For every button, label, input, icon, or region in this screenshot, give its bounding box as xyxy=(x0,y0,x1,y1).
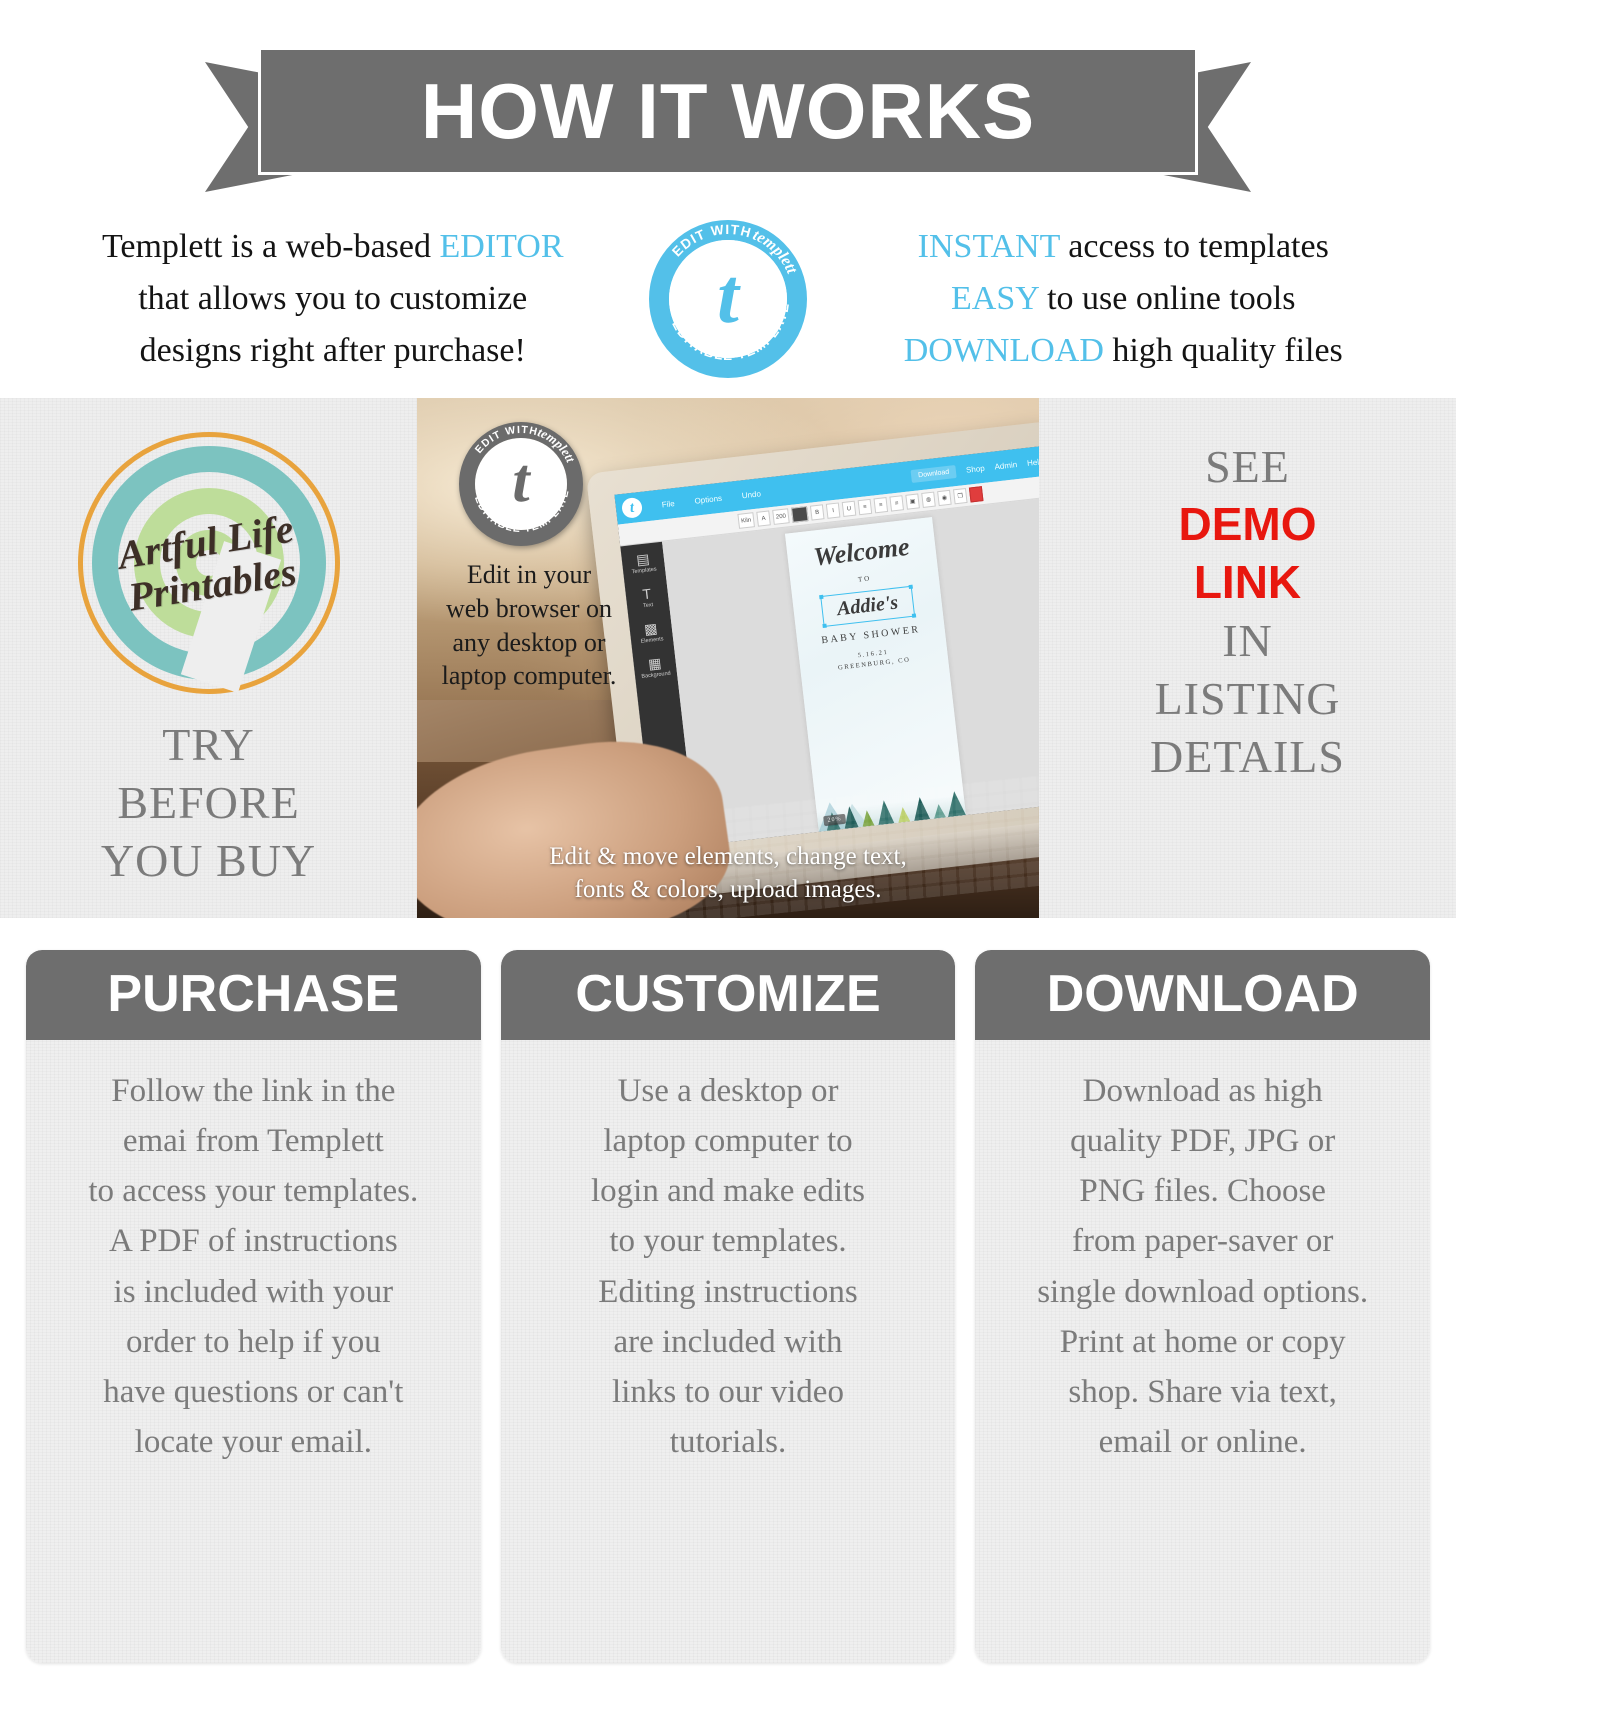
card-customize-line5: Editing instructions xyxy=(517,1267,940,1317)
intro-right-line3: DOWNLOAD high quality files xyxy=(821,325,1427,377)
try-line3: YOU BUY xyxy=(101,832,316,890)
editor-admin-link[interactable]: Admin xyxy=(994,460,1018,472)
header-banner: HOW IT WORKS xyxy=(0,0,1456,200)
intro-right-line2-post: to use online tools xyxy=(1039,280,1296,317)
card-purchase-line7: have questions or can't xyxy=(42,1367,465,1417)
selection-handle-bl[interactable] xyxy=(822,624,826,628)
background-icon: ▦ xyxy=(639,655,670,672)
sidebar-item-elements[interactable]: ▩ Elements xyxy=(639,620,664,644)
card-download-line3: PNG files. Choose xyxy=(991,1166,1414,1216)
invitation-template[interactable]: Welcome TO Addie's BABY SHOWER xyxy=(785,517,966,832)
invitation-name-text[interactable]: Addie's xyxy=(822,591,914,622)
card-purchase-line4: A PDF of instructions xyxy=(42,1216,465,1266)
selection-handle-tr[interactable] xyxy=(909,585,913,589)
editor-layer-button[interactable]: ▣ xyxy=(905,493,920,509)
demo-link-heading: SEE DEMO LINK IN LISTING DETAILS xyxy=(1150,438,1345,786)
intro-text-right: INSTANT access to templates EASY to use … xyxy=(821,221,1427,376)
editor-underline-button[interactable]: U xyxy=(842,501,857,517)
sidebar-label-templates: Templates xyxy=(631,567,657,576)
selection-handle-tl[interactable] xyxy=(819,595,823,599)
try-line1: TRY xyxy=(101,716,316,774)
photo-caption-top-line3: any desktop or xyxy=(429,626,629,660)
demo-line-demo: DEMO xyxy=(1150,496,1345,554)
photo-caption-bottom-line2: fonts & colors, upload images. xyxy=(417,873,1039,906)
logo-text: Artful Life Printables xyxy=(59,413,359,713)
editor-delete-button[interactable] xyxy=(969,486,984,502)
editor-menu-file[interactable]: File xyxy=(661,499,675,509)
intro-text-left: Templett is a web-based EDITOR that allo… xyxy=(30,221,636,376)
intro-right-line2: EASY to use online tools xyxy=(821,273,1427,325)
card-customize-line6: are included with xyxy=(517,1317,940,1367)
card-customize-line1: Use a desktop or xyxy=(517,1066,940,1116)
card-download-body: Download as high quality PDF, JPG or PNG… xyxy=(975,1040,1430,1663)
card-customize-body: Use a desktop or laptop computer to logi… xyxy=(501,1040,956,1663)
editor-duplicate-button[interactable]: ❐ xyxy=(953,488,968,504)
card-purchase-line8: locate your email. xyxy=(42,1417,465,1467)
photo-badge-brand-text: templett xyxy=(536,424,579,465)
card-download-line6: Print at home or copy xyxy=(991,1317,1414,1367)
demo-line-link: LINK xyxy=(1150,554,1345,612)
card-download-line2: quality PDF, JPG or xyxy=(991,1116,1414,1166)
photo-caption-top-line1: Edit in your xyxy=(429,558,629,592)
card-purchase-line1: Follow the link in the xyxy=(42,1066,465,1116)
try-line2: BEFORE xyxy=(101,774,316,832)
card-purchase-line3: to access your templates. xyxy=(42,1166,465,1216)
invitation-welcome-text[interactable]: Welcome xyxy=(787,531,937,574)
intro-left-line2: that allows you to customize xyxy=(30,273,636,325)
editor-bold-button[interactable]: B xyxy=(810,504,825,520)
text-icon: T xyxy=(641,586,653,601)
templett-badge-photo-wrap: t EDIT WITH templett EDITABLE TEMPLATE xyxy=(459,422,583,546)
sidebar-item-templates[interactable]: ▤ Templates xyxy=(630,551,657,576)
editor-opacity-button[interactable]: ◍ xyxy=(921,492,936,508)
steps-cards: PURCHASE Follow the link in the emai fro… xyxy=(0,918,1456,1693)
templett-badge-header-wrap: t EDIT WITH templett EDITABLE TEMPLATE xyxy=(636,220,821,378)
editor-menu-options[interactable]: Options xyxy=(694,493,722,505)
templett-badge-photo-icon: t EDIT WITH templett EDITABLE TEMPLATE xyxy=(459,422,583,546)
card-download-line4: from paper-saver or xyxy=(991,1216,1414,1266)
artful-life-printables-logo: Artful Life Printables xyxy=(78,432,340,694)
intro-right-line2-highlight: EASY xyxy=(951,280,1039,317)
sidebar-item-background[interactable]: ▦ Background xyxy=(639,655,671,680)
intro-left-line1-highlight: EDITOR xyxy=(439,228,563,265)
card-customize-line2: laptop computer to xyxy=(517,1116,940,1166)
intro-right-line1: INSTANT access to templates xyxy=(821,221,1427,273)
card-purchase-title: PURCHASE xyxy=(26,950,481,1040)
card-download-line5: single download options. xyxy=(991,1267,1414,1317)
card-purchase-line2: emai from Templett xyxy=(42,1116,465,1166)
editor-download-button[interactable]: Download xyxy=(911,465,957,483)
photo-badge-top-text: EDIT WITH xyxy=(473,424,540,456)
editor-align-left-button[interactable]: ≡ xyxy=(858,499,873,515)
badge-bottom-text: EDITABLE TEMPLATE xyxy=(669,301,792,363)
badge-top-text: EDIT WITH xyxy=(669,222,753,260)
demo-line-see: SEE xyxy=(1150,438,1345,496)
intro-right-line3-highlight: DOWNLOAD xyxy=(904,332,1104,369)
editor-menu-undo[interactable]: Undo xyxy=(741,489,761,500)
card-purchase: PURCHASE Follow the link in the emai fro… xyxy=(26,950,481,1663)
templett-badge-icon: t EDIT WITH templett EDITABLE TEMPLATE xyxy=(649,220,807,378)
elements-icon: ▩ xyxy=(639,620,663,637)
card-customize-line3: login and make edits xyxy=(517,1166,940,1216)
photo-caption-bottom: Edit & move elements, change text, fonts… xyxy=(417,840,1039,906)
card-purchase-body: Follow the link in the emai from Templet… xyxy=(26,1040,481,1663)
editor-font-size-input[interactable]: 200 xyxy=(772,508,790,525)
demo-line-listing: LISTING xyxy=(1150,670,1345,728)
sidebar-label-background: Background xyxy=(641,671,671,680)
card-customize-line8: tutorials. xyxy=(517,1417,940,1467)
band-right: SEE DEMO LINK IN LISTING DETAILS xyxy=(1039,398,1456,918)
middle-band: Artful Life Printables TRY BEFORE YOU BU… xyxy=(0,398,1456,918)
photo-caption-top: Edit in your web browser on any desktop … xyxy=(429,558,629,693)
editor-help-link[interactable]: Help xyxy=(1026,457,1039,468)
photo-badge-bottom-text: EDITABLE TEMPLATE xyxy=(472,488,572,535)
editor-shop-link[interactable]: Shop xyxy=(966,463,986,474)
editor-italic-button[interactable]: I xyxy=(826,502,841,518)
intro-left-line1-pre: Templett is a web-based xyxy=(102,228,440,265)
sidebar-item-text[interactable]: T Text xyxy=(641,586,654,609)
photo-caption-bottom-line1: Edit & move elements, change text, xyxy=(417,840,1039,873)
laptop-photo: t EDIT WITH templett EDITABLE TEMPLATE xyxy=(417,398,1039,918)
card-customize-line4: to your templates. xyxy=(517,1216,940,1266)
intro-left-line3: designs right after purchase! xyxy=(30,325,636,377)
ribbon-panel: HOW IT WORKS xyxy=(258,47,1198,175)
card-download-title: DOWNLOAD xyxy=(975,950,1430,1040)
selection-handle-br[interactable] xyxy=(912,613,916,617)
page-title: HOW IT WORKS xyxy=(421,72,1035,150)
photo-caption-top-line2: web browser on xyxy=(429,592,629,626)
badge-brand-text: templett xyxy=(750,227,800,277)
card-download-line8: email or online. xyxy=(991,1417,1414,1467)
intro-right-line1-post: access to templates xyxy=(1060,228,1329,265)
card-customize-title: CUSTOMIZE xyxy=(501,950,956,1040)
demo-line-details: DETAILS xyxy=(1150,728,1345,786)
band-left: Artful Life Printables TRY BEFORE YOU BU… xyxy=(0,398,417,918)
editor-color-swatch[interactable] xyxy=(791,506,809,523)
photo-caption-top-line4: laptop computer. xyxy=(429,659,629,693)
sidebar-label-elements: Elements xyxy=(640,636,663,645)
templates-icon: ▤ xyxy=(630,551,657,568)
demo-line-in: IN xyxy=(1150,612,1345,670)
card-download-line1: Download as high xyxy=(991,1066,1414,1116)
editor-align-center-button[interactable]: ≡ xyxy=(874,497,889,513)
badge-curved-text: EDIT WITH templett EDITABLE TEMPLATE xyxy=(649,220,807,378)
editor-effects-button[interactable]: ◉ xyxy=(937,490,952,506)
editor-font-style-button[interactable]: A xyxy=(756,510,771,526)
photo-badge-curved-text: EDIT WITH templett EDITABLE TEMPLATE xyxy=(459,422,583,546)
intro-right-line1-highlight: INSTANT xyxy=(918,228,1060,265)
card-customize-line7: links to our video xyxy=(517,1367,940,1417)
editor-align-right-button[interactable]: ≡ xyxy=(889,495,904,511)
intro-section: Templett is a web-based EDITOR that allo… xyxy=(0,200,1456,398)
editor-logo-icon: t xyxy=(621,497,643,519)
sidebar-label-text: Text xyxy=(643,602,654,609)
card-download: DOWNLOAD Download as high quality PDF, J… xyxy=(975,950,1430,1663)
card-purchase-line5: is included with your xyxy=(42,1267,465,1317)
try-before-you-buy-heading: TRY BEFORE YOU BUY xyxy=(101,716,316,890)
card-purchase-line6: order to help if you xyxy=(42,1317,465,1367)
card-download-line7: shop. Share via text, xyxy=(991,1367,1414,1417)
card-customize: CUSTOMIZE Use a desktop or laptop comput… xyxy=(501,950,956,1663)
intro-left-line1: Templett is a web-based EDITOR xyxy=(30,221,636,273)
editor-font-select[interactable]: Kiln xyxy=(737,512,755,529)
invitation-name-selected-box[interactable]: Addie's xyxy=(820,586,915,627)
intro-right-line3-post: high quality files xyxy=(1104,332,1343,369)
